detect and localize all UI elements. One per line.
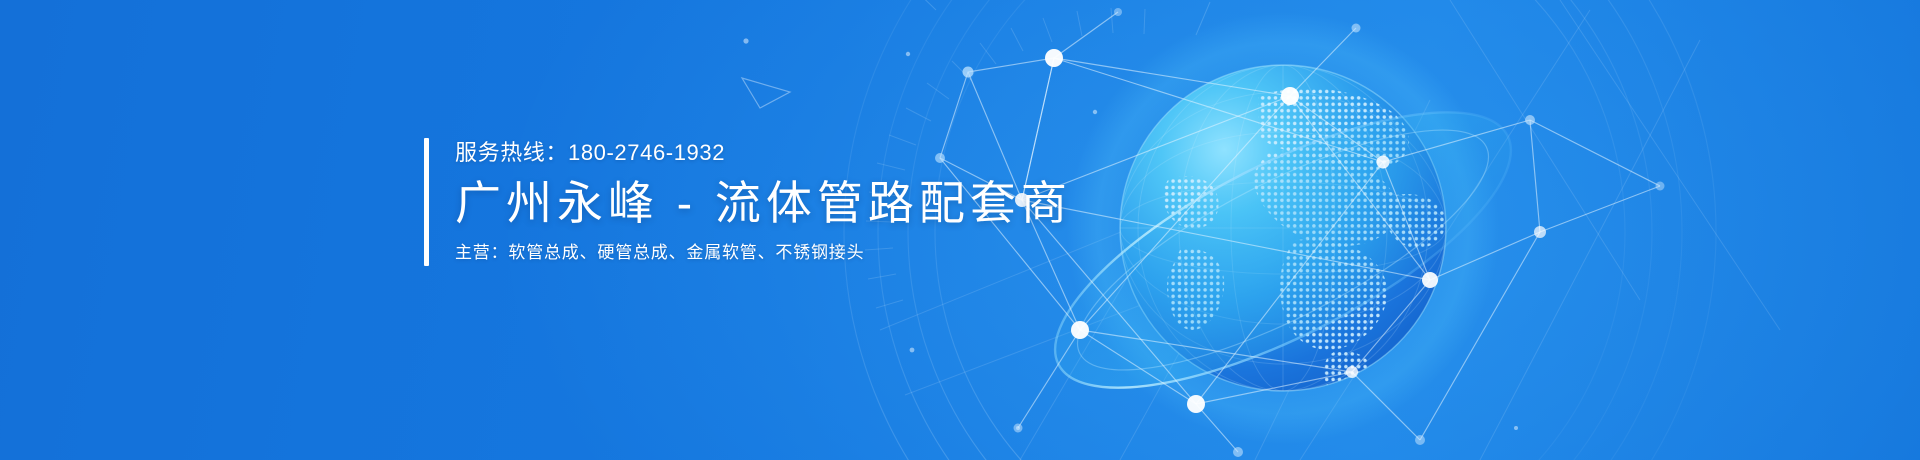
service-hotline: 服务热线：180-2746-1932 — [455, 138, 1072, 168]
banner-text-block: 服务热线：180-2746-1932 广州永峰 - 流体管路配套商 主营：软管总… — [424, 138, 1072, 266]
text-lines: 服务热线：180-2746-1932 广州永峰 - 流体管路配套商 主营：软管总… — [455, 138, 1072, 266]
page-title: 广州永峰 - 流体管路配套商 — [455, 174, 1072, 232]
vertical-accent-bar — [424, 138, 429, 266]
promo-banner: 服务热线：180-2746-1932 广州永峰 - 流体管路配套商 主营：软管总… — [0, 0, 1920, 460]
product-subtitle: 主营：软管总成、硬管总成、金属软管、不锈钢接头 — [455, 240, 1072, 266]
